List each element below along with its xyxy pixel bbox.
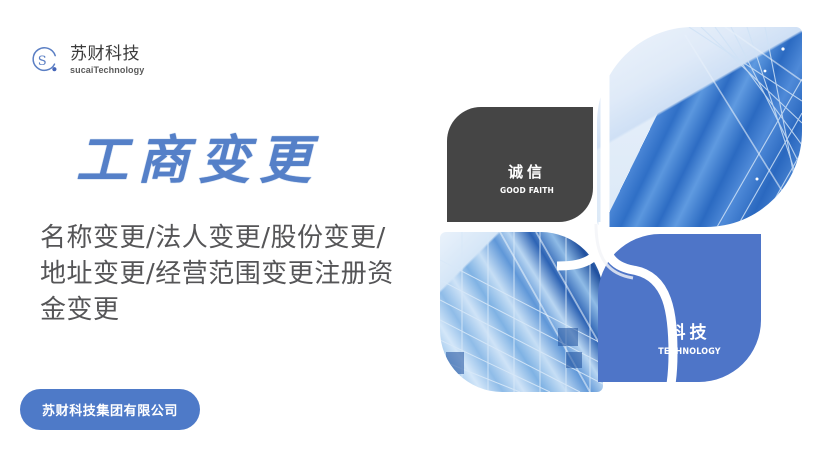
- company-cta-button[interactable]: 苏财科技集团有限公司: [20, 389, 200, 430]
- svg-text:S: S: [38, 54, 47, 69]
- petal-photo-bottom-left: [440, 232, 603, 392]
- page-subtitle: 名称变更/法人变更/股份变更/地址变更/经营范围变更注册资金变更: [40, 220, 396, 328]
- petal-technology: 科技 TECHNOLOGY: [598, 234, 761, 382]
- brand-logo-text: 苏财科技 sucaiTechnology: [70, 46, 144, 75]
- brand-name-en: sucaiTechnology: [70, 66, 144, 75]
- pinwheel-graphic: 诚信 GOOD FAITH 科技 TECHNOLOGY: [437, 14, 837, 469]
- petal-good-faith: 诚信 GOOD FAITH: [447, 107, 593, 222]
- petal-good-faith-label: 诚信 GOOD FAITH: [447, 161, 593, 195]
- petal-good-faith-cn: 诚信: [461, 161, 593, 182]
- poster-canvas: S 苏财科技 sucaiTechnology 工商变更 名称变更/法人变更/股份…: [0, 0, 837, 469]
- brand-name-cn: 苏财科技: [70, 46, 144, 63]
- petal-photo-top-right: [597, 27, 802, 227]
- circle-s-logo-icon: S: [28, 44, 61, 77]
- petal-technology-en: TECHNOLOGY: [622, 347, 756, 357]
- petal-technology-label: 科技 TECHNOLOGY: [598, 318, 761, 357]
- petal-good-faith-en: GOOD FAITH: [465, 186, 589, 195]
- brand-logo[interactable]: S 苏财科技 sucaiTechnology: [28, 44, 144, 77]
- petal-technology-cn: 科技: [618, 318, 761, 343]
- page-title: 工商变更: [76, 118, 320, 193]
